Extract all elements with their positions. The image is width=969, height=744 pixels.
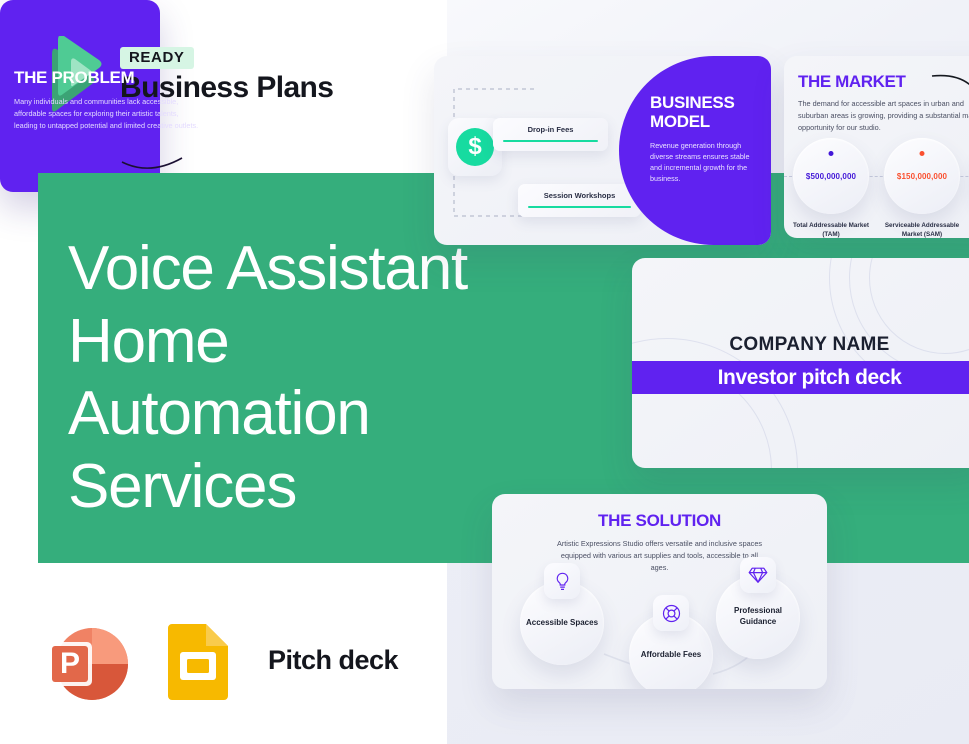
solution-node-label: Accessible Spaces <box>526 618 598 629</box>
metric-caption: Total Addressable Market (TAM) <box>790 222 872 238</box>
preview-canvas: READY Business Plans Voice Assistant Hom… <box>0 0 969 744</box>
slide-cover[interactable]: COMPANY NAME Investor pitch deck <box>632 258 969 468</box>
business-model-title: BUSINESS MODEL <box>650 93 760 131</box>
revenue-stream-label: Session Workshops <box>528 191 631 200</box>
ready-badge: READY <box>120 47 194 69</box>
metric-disc: $150,000,000 <box>884 138 960 214</box>
slide-problem[interactable]: THE PROBLEM Many individuals and communi… <box>0 0 160 192</box>
metric-value: $150,000,000 <box>897 172 947 181</box>
solution-node[interactable]: Professional Guidance <box>716 575 800 659</box>
metric-dot <box>829 151 834 156</box>
metric-caption: Serviceable Addressable Market (SAM) <box>881 222 963 238</box>
decor-ring <box>632 338 798 468</box>
format-label: Pitch deck <box>268 645 398 676</box>
underline-bar <box>528 206 631 208</box>
revenue-stream-item[interactable]: Drop-in Fees <box>493 118 608 151</box>
problem-description: Many individuals and communities lack ac… <box>14 96 199 131</box>
dollar-icon: $ <box>456 128 494 166</box>
brand-text: READY Business Plans <box>120 47 333 104</box>
solution-node[interactable]: Accessible Spaces <box>520 581 604 665</box>
lightbulb-icon <box>544 563 580 599</box>
powerpoint-icon[interactable]: P <box>44 616 132 704</box>
revenue-stream-label: Drop-in Fees <box>503 125 598 134</box>
solution-title: THE SOLUTION <box>492 511 827 531</box>
slide-business-model[interactable]: $ Drop-in Fees Session Workshops Commiss… <box>434 56 771 245</box>
metric-dot <box>920 151 925 156</box>
market-title: THE MARKET <box>798 72 905 92</box>
slide-market[interactable]: THE MARKET The demand for accessible art… <box>784 56 969 238</box>
page-title: Voice Assistant Home Automation Services <box>68 233 538 523</box>
market-metric[interactable]: $500,000,000 Total Addressable Market (T… <box>790 138 872 238</box>
svg-text:P: P <box>60 647 80 680</box>
metric-disc: $500,000,000 <box>793 138 869 214</box>
market-metrics: $500,000,000 Total Addressable Market (T… <box>790 138 969 238</box>
cover-subtitle: Investor pitch deck <box>718 366 902 390</box>
company-name: COMPANY NAME <box>632 334 969 356</box>
diamond-icon <box>740 557 776 593</box>
slide-solution[interactable]: THE SOLUTION Artistic Expressions Studio… <box>492 494 827 689</box>
format-list: P Pitch deck <box>44 616 398 704</box>
revenue-stream-item[interactable]: Session Workshops <box>518 184 641 217</box>
solution-node-label: Professional Guidance <box>716 606 800 628</box>
google-slides-icon[interactable] <box>154 616 242 704</box>
cover-subtitle-bar: Investor pitch deck <box>632 361 969 394</box>
market-description: The demand for accessible art spaces in … <box>798 98 969 133</box>
business-model-description: Revenue generation through diverse strea… <box>650 140 762 185</box>
solution-description: Artistic Expressions Studio offers versa… <box>554 538 766 573</box>
metric-value: $500,000,000 <box>806 172 856 181</box>
lifebuoy-icon <box>653 595 689 631</box>
solution-node-label: Affordable Fees <box>641 650 701 661</box>
underline-bar <box>503 140 598 142</box>
problem-title: THE PROBLEM <box>14 68 134 88</box>
solution-node[interactable]: Affordable Fees <box>629 613 713 689</box>
market-metric[interactable]: $150,000,000 Serviceable Addressable Mar… <box>881 138 963 238</box>
